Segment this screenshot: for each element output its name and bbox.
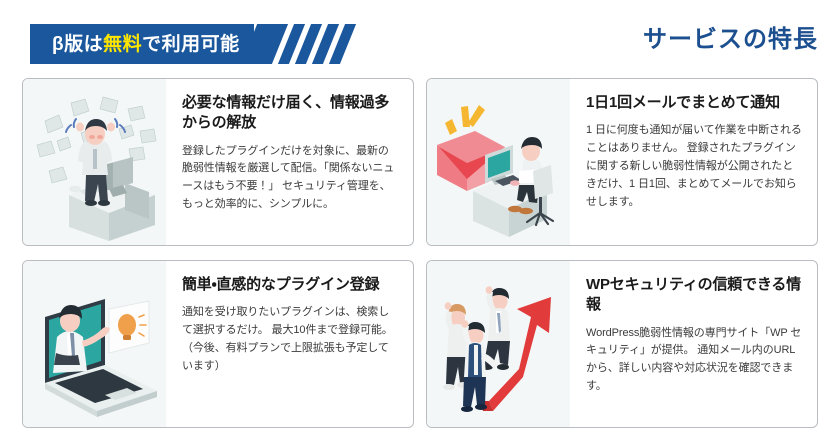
feature-card-grid: 必要な情報だけ届く、情報過多からの解放 登録したプラグインだけを対象に、最新の脆… <box>0 78 840 428</box>
banner-block: β版は無料で利用可能 <box>30 24 254 64</box>
banner-text: β版は無料で利用可能 <box>52 35 240 54</box>
card-illustration-mail-notification <box>427 79 570 245</box>
card-description: 登録したプラグインだけを対象に、最新の脆弱性情報を厳選して配信。「関係ないニュー… <box>182 143 399 214</box>
banner-text-highlight: 無料 <box>103 34 142 55</box>
card-title: 簡単・直感的なプラグイン登録 <box>182 275 399 295</box>
card-body: 1日1回メールでまとめて通知 1 日に何度も通知が届いて作業を中断されることはあ… <box>570 79 817 245</box>
celebrating-team-red-arrow-icon <box>427 261 570 427</box>
card-description: 1 日に何度も通知が届いて作業を中断されることはありません。 登録されたプラグイ… <box>586 122 803 211</box>
card-title: 1日1回メールでまとめて通知 <box>586 93 803 113</box>
card-description: WordPress脆弱性情報の専門サイト「WP セキュリティ」が提供。 通知メー… <box>586 325 803 396</box>
card-description: 通知を受け取りたいプラグインは、検索して選択するだけ。 最大10件まで登録可能。… <box>182 304 399 375</box>
banner-stripes <box>269 24 354 64</box>
feature-card-easy-registration: 簡単・直感的なプラグイン登録 通知を受け取りたいプラグインは、検索して選択するだ… <box>22 260 414 428</box>
stressed-worker-flying-papers-icon <box>23 79 166 245</box>
feature-card-info-overload: 必要な情報だけ届く、情報過多からの解放 登録したプラグインだけを対象に、最新の脆… <box>22 78 414 246</box>
banner-text-prefix: β版は <box>52 34 103 55</box>
card-illustration-laptop-presenter <box>23 261 166 427</box>
card-title: WPセキュリティの信頼できる情報 <box>586 275 803 316</box>
feature-card-trusted-source: WPセキュリティの信頼できる情報 WordPress脆弱性情報の専門サイト「WP… <box>426 260 818 428</box>
card-illustration-celebrating-team <box>427 261 570 427</box>
mail-notification-desk-icon <box>427 79 570 245</box>
laptop-presenter-lightbulb-icon <box>23 261 166 427</box>
card-body: 簡単・直感的なプラグイン登録 通知を受け取りたいプラグインは、検索して選択するだ… <box>166 261 413 427</box>
page-header: β版は無料で利用可能 サービスの特長 <box>0 0 840 74</box>
section-title: サービスの特長 <box>643 28 818 52</box>
beta-free-banner: β版は無料で利用可能 <box>30 24 354 64</box>
banner-text-suffix: で利用可能 <box>142 34 240 55</box>
feature-card-daily-digest: 1日1回メールでまとめて通知 1 日に何度も通知が届いて作業を中断されることはあ… <box>426 78 818 246</box>
card-body: WPセキュリティの信頼できる情報 WordPress脆弱性情報の専門サイト「WP… <box>570 261 817 427</box>
card-title: 必要な情報だけ届く、情報過多からの解放 <box>182 93 399 134</box>
card-body: 必要な情報だけ届く、情報過多からの解放 登録したプラグインだけを対象に、最新の脆… <box>166 79 413 245</box>
card-illustration-stressed-worker <box>23 79 166 245</box>
